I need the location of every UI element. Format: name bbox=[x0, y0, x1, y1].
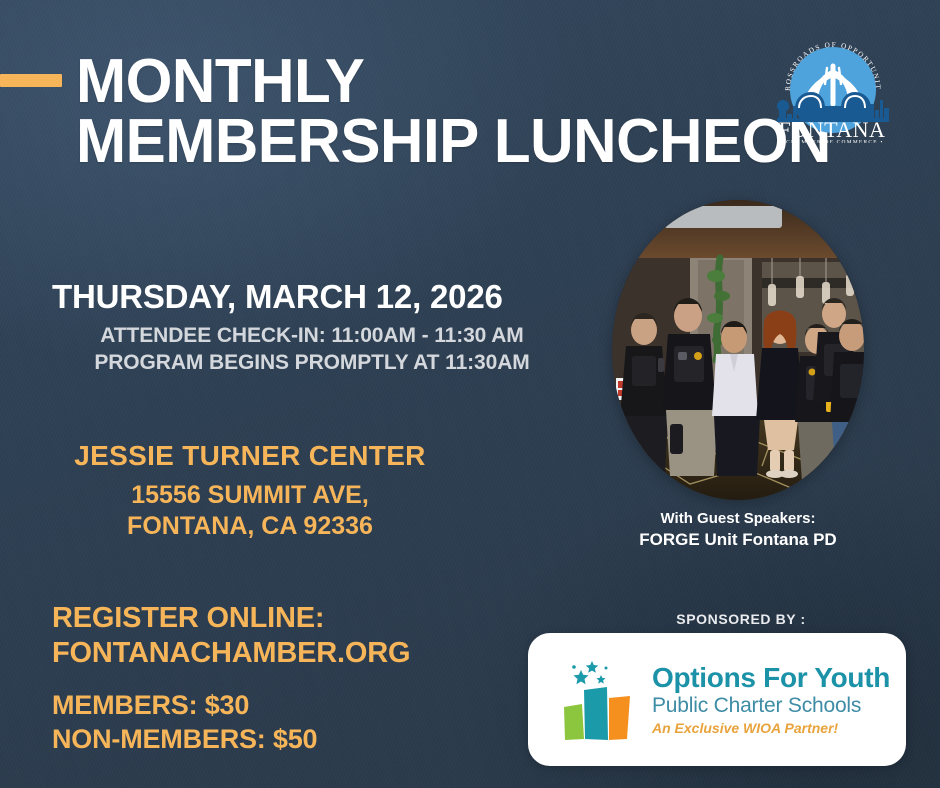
price-non-members: NON-MEMBERS: $50 bbox=[52, 724, 317, 755]
speakers-label: With Guest Speakers: bbox=[588, 510, 888, 529]
title-line-2: MEMBERSHIP LUNCHEON bbox=[76, 112, 755, 172]
venue-street: 15556 SUMMIT AVE, bbox=[40, 481, 460, 510]
venue-block: JESSIE TURNER CENTER 15556 SUMMIT AVE, F… bbox=[40, 440, 460, 541]
venue-city-state-zip: FONTANA, CA 92336 bbox=[40, 512, 460, 541]
venue-name: JESSIE TURNER CENTER bbox=[40, 440, 460, 472]
page-title: MONTHLY MEMBERSHIP LUNCHEON bbox=[76, 52, 755, 172]
guest-speakers-caption: With Guest Speakers: FORGE Unit Fontana … bbox=[588, 510, 888, 550]
options-for-youth-logo-icon bbox=[554, 657, 640, 743]
event-program-time: PROGRAM BEGINS PROMPTLY AT 11:30AM bbox=[52, 351, 572, 375]
event-date-block: THURSDAY, MARCH 12, 2026 ATTENDEE CHECK-… bbox=[52, 278, 572, 375]
register-label: REGISTER ONLINE: bbox=[52, 602, 410, 635]
speakers-name: FORGE Unit Fontana PD bbox=[588, 529, 888, 550]
pricing-block: MEMBERS: $30 NON-MEMBERS: $50 bbox=[52, 690, 317, 755]
sponsor-text-block: Options For Youth Public Charter Schools… bbox=[652, 663, 890, 736]
gold-dash-accent bbox=[0, 74, 62, 87]
sponsor-name: Options For Youth bbox=[652, 663, 890, 692]
guest-speakers-photo bbox=[612, 200, 864, 500]
fontana-chamber-logo: CROSSROADS OF OPPORTUNITY FONTANA • CHAM… bbox=[765, 28, 900, 143]
registration-block: REGISTER ONLINE: FONTANACHAMBER.ORG bbox=[52, 602, 410, 670]
sponsor-tagline: An Exclusive WIOA Partner! bbox=[652, 720, 890, 736]
event-checkin-time: ATTENDEE CHECK-IN: 11:00AM - 11:30 AM bbox=[52, 324, 572, 348]
logo-tagline: • CHAMBER OF COMMERCE • bbox=[780, 140, 883, 144]
bar-teal bbox=[584, 687, 608, 740]
title-line-1: MONTHLY bbox=[76, 47, 364, 116]
price-members: MEMBERS: $30 bbox=[52, 690, 317, 721]
bar-orange bbox=[609, 696, 630, 740]
logo-wordmark: FONTANA bbox=[779, 117, 886, 142]
sponsor-subtitle: Public Charter Schools bbox=[652, 694, 890, 718]
bar-green bbox=[564, 704, 584, 740]
flyer-canvas: MONTHLY MEMBERSHIP LUNCHEON bbox=[0, 0, 940, 788]
sponsor-card: Options For Youth Public Charter Schools… bbox=[528, 633, 906, 766]
sponsored-by-label: SPONSORED BY : bbox=[576, 611, 906, 627]
event-date: THURSDAY, MARCH 12, 2026 bbox=[52, 278, 572, 316]
register-url[interactable]: FONTANACHAMBER.ORG bbox=[52, 637, 410, 670]
